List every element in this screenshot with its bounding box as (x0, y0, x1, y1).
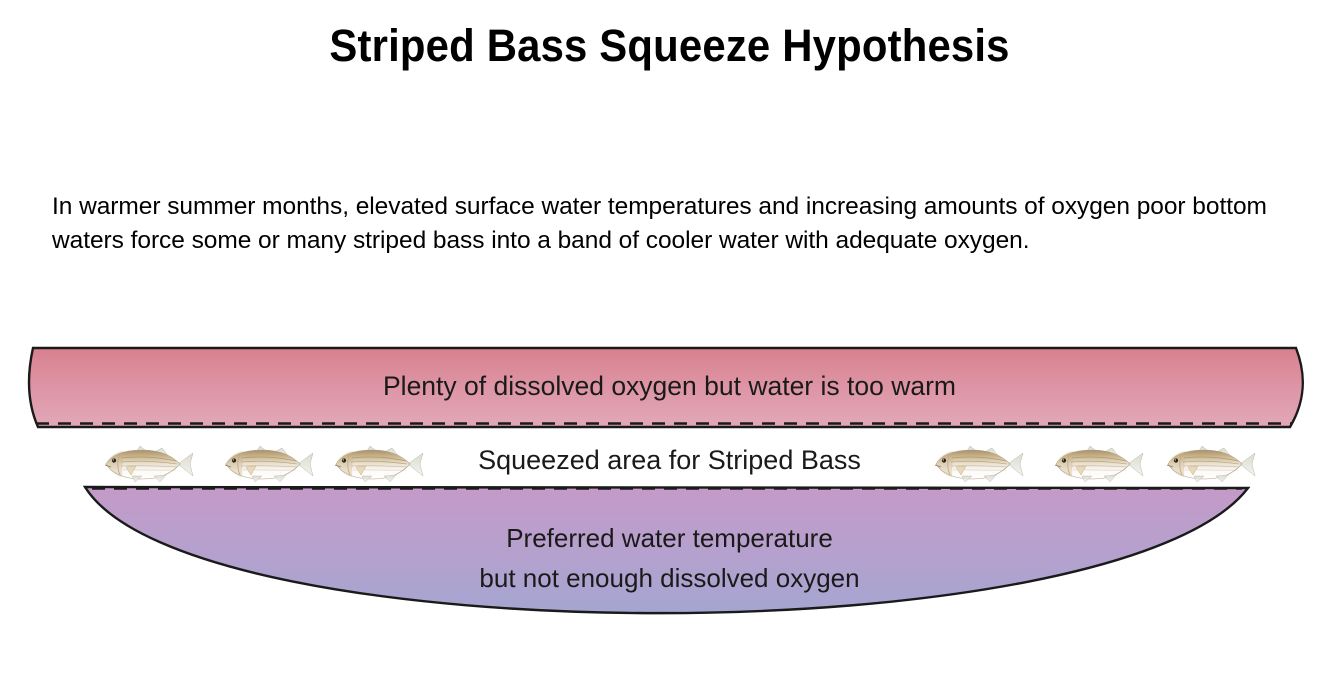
top-warm-layer-shape (29, 348, 1303, 427)
page-title: Striped Bass Squeeze Hypothesis (47, 20, 1292, 72)
bottom-cold-layer-shape (85, 487, 1248, 613)
striped-bass-fish-icon (98, 443, 195, 485)
striped-bass-squeeze-diagram: Plenty of dissolved oxygen but water is … (0, 330, 1339, 660)
intro-paragraph: In warmer summer months, elevated surfac… (52, 190, 1292, 257)
striped-bass-fish-icon (1048, 443, 1145, 485)
diagram-shapes (0, 330, 1339, 660)
striped-bass-fish-icon (1160, 443, 1257, 485)
striped-bass-fish-icon (328, 443, 425, 485)
slide-canvas: Striped Bass Squeeze Hypothesis In warme… (0, 0, 1339, 692)
striped-bass-fish-icon (218, 443, 315, 485)
striped-bass-fish-icon (928, 443, 1025, 485)
